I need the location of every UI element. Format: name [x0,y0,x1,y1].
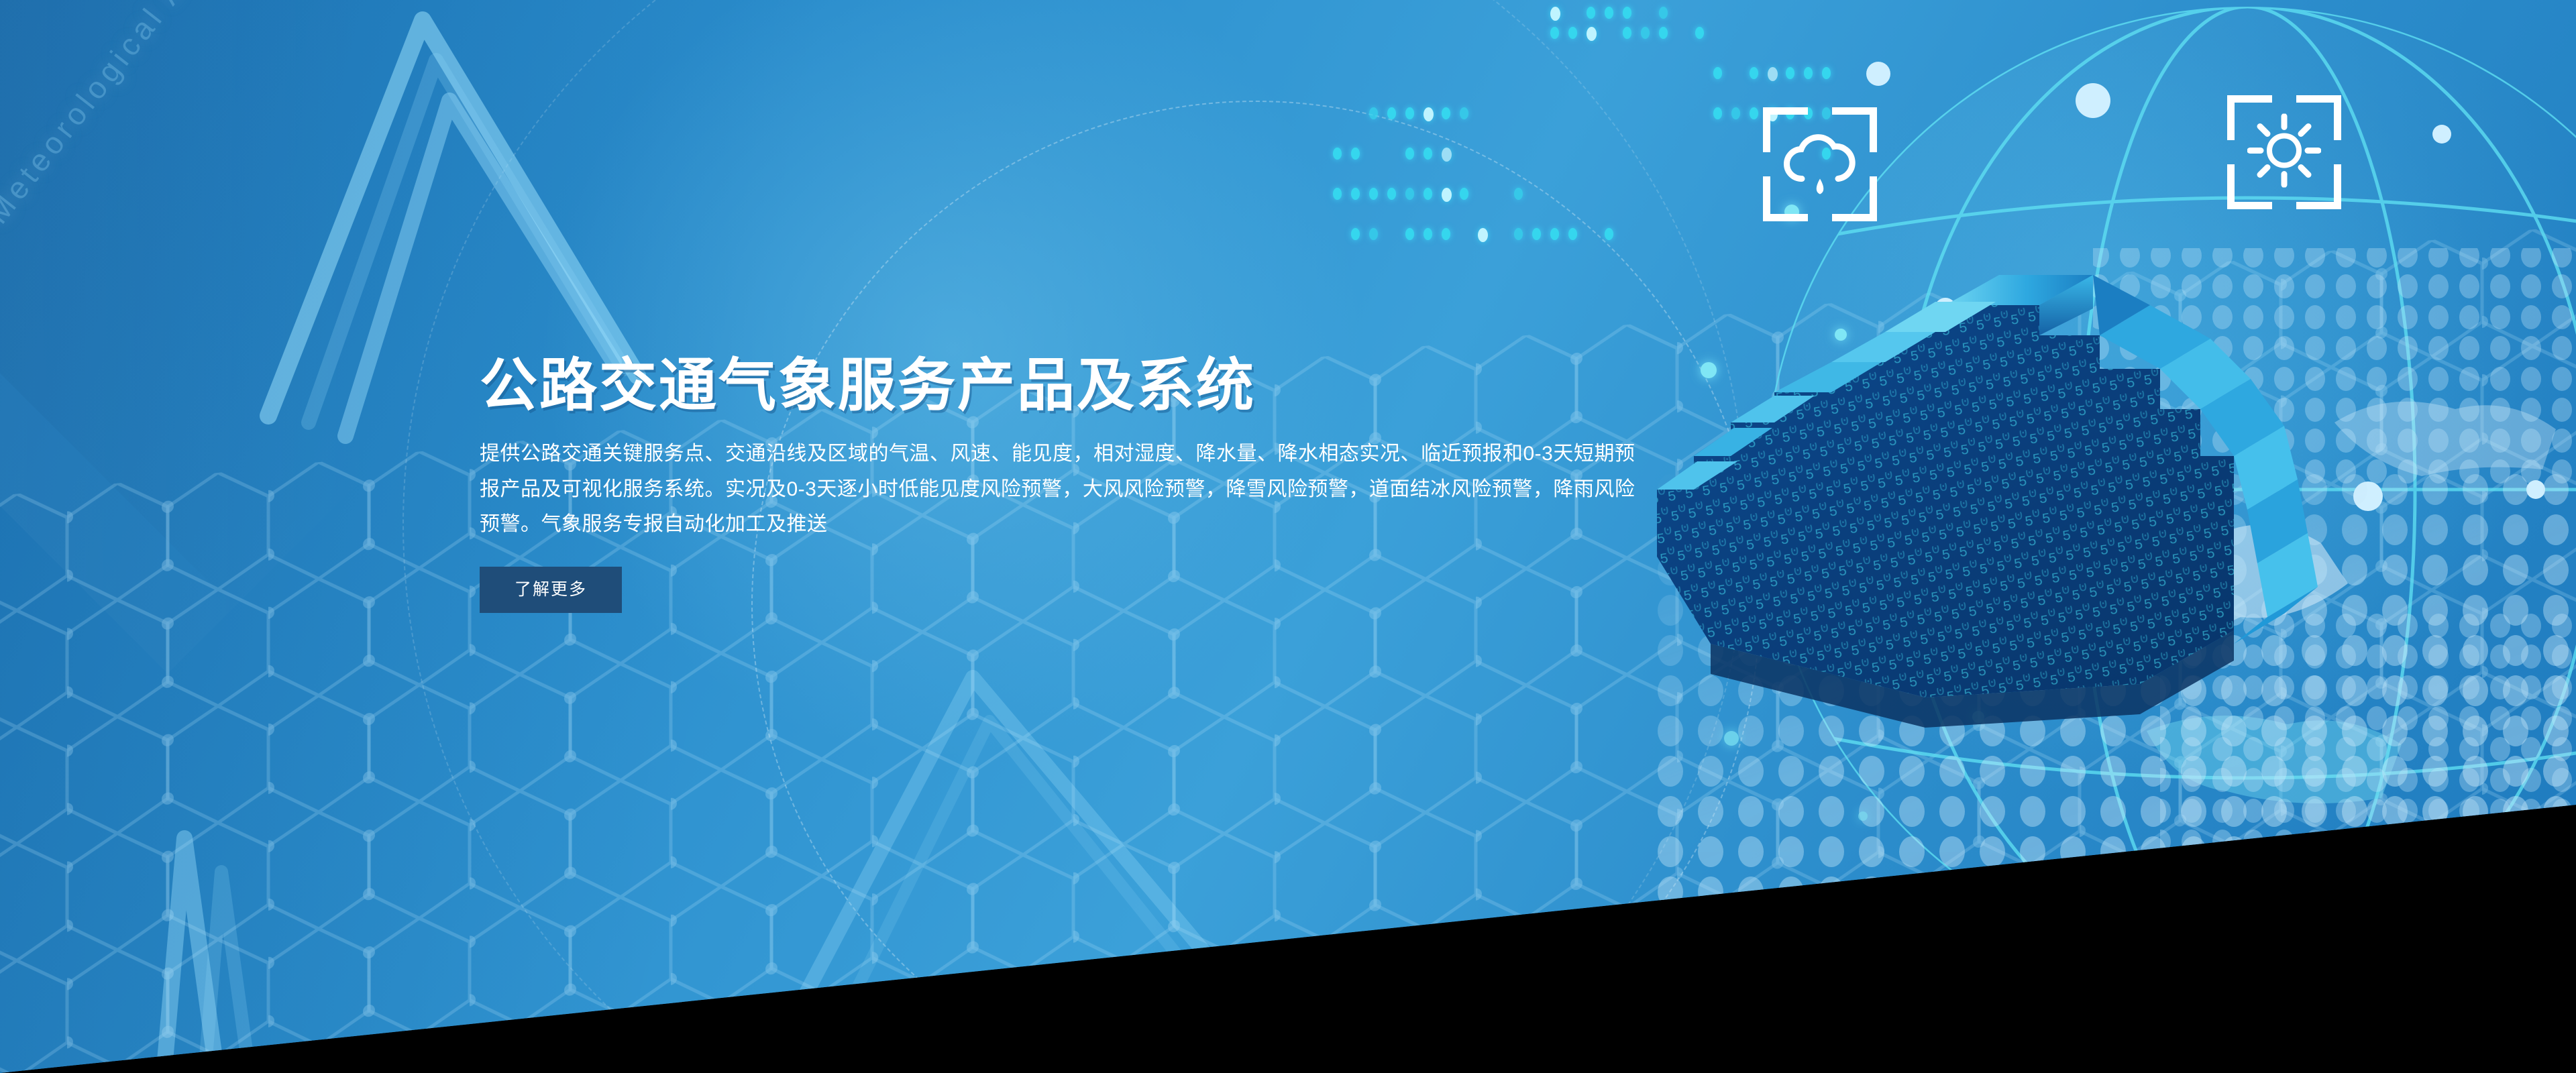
map-dot [1641,27,1650,39]
map-dot [1405,228,1414,240]
map-dot [1333,188,1342,200]
map-dot [1442,107,1450,119]
map-dot [1351,148,1360,160]
sun-icon-frame [2227,95,2341,209]
map-dot [1568,27,1577,39]
map-dot [1442,228,1450,240]
map-dot [1351,188,1360,200]
map-dot [1478,228,1488,242]
map-dot [1713,67,1722,79]
map-dot [1587,27,1597,41]
sun-icon [2247,114,2321,191]
map-dot [1442,148,1452,162]
map-dot [1659,27,1668,39]
map-dot [1351,228,1360,240]
map-dot [1514,228,1523,240]
map-dot [1695,27,1704,39]
map-dot [1405,107,1414,119]
map-dot [1659,7,1668,19]
map-dot [1387,107,1396,119]
map-dot [1550,27,1559,39]
map-dot [1424,107,1434,121]
learn-more-button[interactable]: 了解更多 [480,567,622,613]
map-dot [1605,228,1613,240]
hero-description: 提供公路交通关键服务点、交通沿线及区域的气温、风速、能见度，相对湿度、降水量、降… [480,437,1640,543]
cloud-rain-icon-frame [1763,107,1877,221]
page-title: 公路交通气象服务产品及系统 [480,355,1821,416]
map-dot [1460,107,1468,119]
map-dot [1424,228,1432,240]
map-dot [1550,228,1559,240]
map-dot [1623,27,1631,39]
map-dot [1460,188,1468,200]
map-dot [1568,228,1577,240]
map-dot [1369,107,1378,119]
map-dot [1605,7,1613,19]
glow-dot [1858,811,1868,821]
map-dot [1514,188,1523,200]
map-dot [1387,188,1396,200]
map-dot [1442,188,1452,202]
map-dot [1369,228,1378,240]
hero-copy-block: 公路交通气象服务产品及系统 提供公路交通关键服务点、交通沿线及区域的气温、风速、… [480,355,1821,613]
map-dot [1424,148,1432,160]
hero-banner-screenshot: Meteorological AI [0,0,2576,1073]
map-dot [1550,7,1560,21]
map-dot [1587,7,1595,19]
map-dot [1731,107,1740,119]
map-dot [1424,188,1432,200]
cloud-rain-icon [1780,127,1860,203]
map-dot [1713,107,1722,119]
map-dot [1532,228,1541,240]
map-dot [1405,188,1414,200]
hero-banner: Meteorological AI [0,0,2576,1073]
map-dot [1369,188,1378,200]
map-dot [1623,7,1631,19]
map-dot [1333,148,1342,160]
map-dot [1405,148,1414,160]
